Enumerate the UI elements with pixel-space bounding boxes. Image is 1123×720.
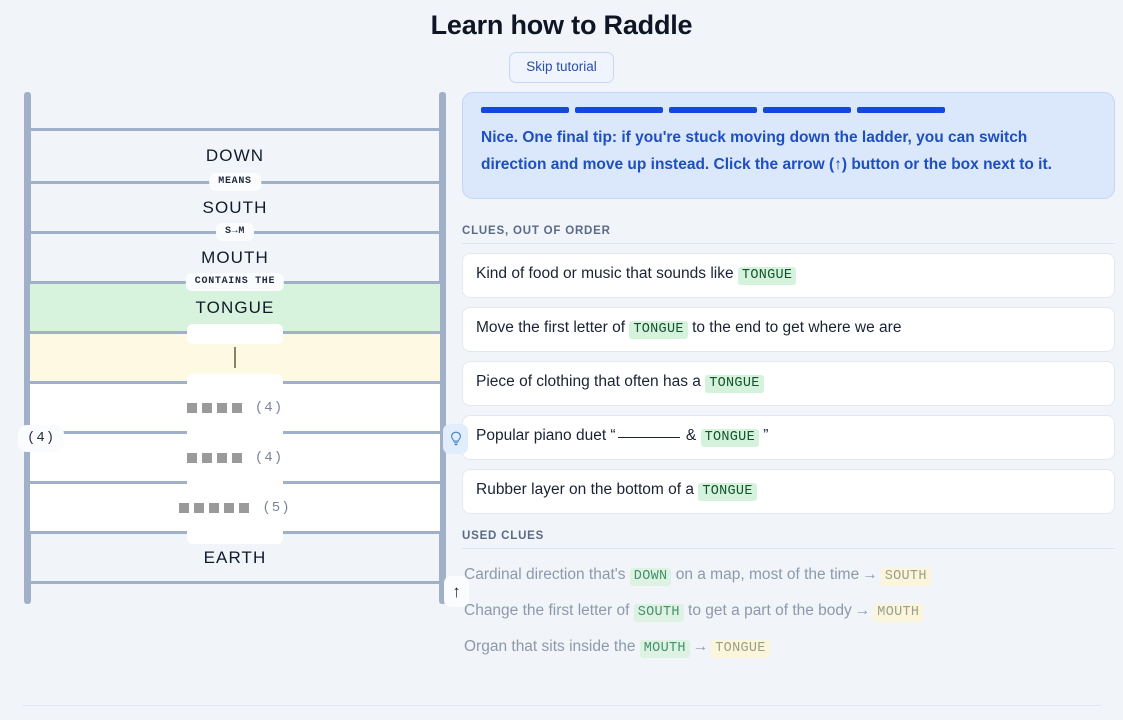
clue-token: TONGUE <box>701 429 759 447</box>
clue-blank <box>618 437 680 438</box>
progress-segment <box>481 107 569 113</box>
progress-segment <box>669 107 757 113</box>
clue-card[interactable]: Kind of food or music that sounds like T… <box>462 253 1115 298</box>
clue-text-pre: Kind of food or music that sounds like <box>476 265 738 282</box>
letter-square <box>232 403 242 413</box>
progress-segment <box>857 107 945 113</box>
letter-squares <box>179 503 249 513</box>
letter-squares <box>187 453 242 463</box>
clue-token: TONGUE <box>629 321 687 339</box>
clue-text-pre: Move the first letter of <box>476 319 629 336</box>
used-clue-post: to get a part of the body <box>684 602 852 619</box>
skip-tutorial-button[interactable]: Skip tutorial <box>509 52 614 83</box>
letter-square <box>202 403 212 413</box>
rung-connector-s-to-m: S→M <box>216 223 254 241</box>
used-clue-token: SOUTH <box>634 604 684 622</box>
clue-card[interactable]: Piece of clothing that often has a TONGU… <box>462 361 1115 406</box>
text-caret <box>234 347 236 368</box>
rung-word: TONGUE <box>195 298 274 318</box>
rung-connector-empty[interactable] <box>187 474 283 494</box>
ladder-rung-bottom-cap <box>30 581 440 611</box>
used-clue-row: Organ that sits inside the MOUTH→TONGUE <box>462 630 1115 666</box>
rung-word: SOUTH <box>203 198 268 218</box>
clue-token: TONGUE <box>705 375 763 393</box>
used-clue-row: Cardinal direction that's DOWN on a map,… <box>462 558 1115 594</box>
tutorial-progress <box>481 107 1094 113</box>
used-clue-answer: MOUTH <box>873 604 923 622</box>
clue-text-mid: & <box>682 427 701 444</box>
used-clue-pre: Organ that sits inside the <box>464 638 640 655</box>
ladder-rung-earth[interactable]: EARTH <box>30 531 440 581</box>
letter-square <box>224 503 234 513</box>
progress-segment <box>575 107 663 113</box>
rung-connector-empty[interactable] <box>187 524 283 544</box>
rung-word: MOUTH <box>201 248 269 268</box>
letter-square <box>202 453 212 463</box>
clue-card[interactable]: Popular piano duet “ & TONGUE ” <box>462 415 1115 460</box>
used-clue-answer: SOUTH <box>881 568 931 586</box>
clue-text-pre: Rubber layer on the bottom of a <box>476 481 698 498</box>
letter-square <box>239 503 249 513</box>
letter-square <box>217 453 227 463</box>
lightbulb-icon <box>449 431 463 447</box>
letter-placeholders: (5) <box>179 500 290 516</box>
clue-token: TONGUE <box>738 267 796 285</box>
rung-connector-empty[interactable] <box>187 374 283 394</box>
used-clue-token: DOWN <box>630 568 672 586</box>
footer-divider <box>22 705 1101 706</box>
ladder-rail-right <box>439 92 446 604</box>
letter-square <box>187 453 197 463</box>
clue-text-pre: Piece of clothing that often has a <box>476 373 705 390</box>
used-clue-token: MOUTH <box>640 640 690 658</box>
letter-count: (4) <box>255 400 283 416</box>
tutorial-message: Nice. One final tip: if you're stuck mov… <box>481 124 1094 178</box>
arrow-icon: → <box>855 602 871 619</box>
letter-count: (4) <box>255 450 283 466</box>
letter-count: (5) <box>262 500 290 516</box>
used-clue-answer: TONGUE <box>711 640 769 658</box>
rung-word: EARTH <box>204 548 267 568</box>
letter-placeholders: (4) <box>187 450 283 466</box>
page-header: Learn how to Raddle Skip tutorial <box>0 0 1123 83</box>
clue-text-pre: Popular piano duet “ <box>476 427 616 444</box>
letter-square <box>232 453 242 463</box>
letter-square <box>209 503 219 513</box>
used-clue-pre: Change the first letter of <box>464 602 634 619</box>
used-clue-row: Change the first letter of SOUTH to get … <box>462 594 1115 630</box>
active-length-badge: (4) <box>18 425 64 452</box>
ladder-panel: DOWN MEANS SOUTH S→M MOUTH CONTAINS THE … <box>0 92 462 604</box>
used-clues-divider <box>462 548 1115 549</box>
letter-square <box>194 503 204 513</box>
move-up-button[interactable]: ↑ <box>444 576 469 607</box>
letter-square <box>187 403 197 413</box>
used-clue-pre: Cardinal direction that's <box>464 566 630 583</box>
letter-square <box>217 403 227 413</box>
rung-connector-empty[interactable] <box>187 324 283 344</box>
main-content: DOWN MEANS SOUTH S→M MOUTH CONTAINS THE … <box>0 92 1123 666</box>
used-clue-post: on a map, most of the time <box>671 566 859 583</box>
hint-button[interactable] <box>443 424 468 454</box>
clue-token: TONGUE <box>698 483 756 501</box>
tutorial-callout: Nice. One final tip: if you're stuck mov… <box>462 92 1115 199</box>
clue-text-post: ” <box>759 427 768 444</box>
arrow-icon: → <box>693 638 709 655</box>
page-title: Learn how to Raddle <box>0 6 1123 44</box>
clue-text-post: to the end to get where we are <box>688 319 902 336</box>
letter-squares <box>187 403 242 413</box>
used-clues-section: USED CLUES Cardinal direction that's DOW… <box>462 530 1115 666</box>
ladder-rungs: DOWN MEANS SOUTH S→M MOUTH CONTAINS THE … <box>30 105 440 611</box>
ladder-rung-top-cap <box>30 105 440 131</box>
letter-placeholders: (4) <box>187 400 283 416</box>
used-clues-title: USED CLUES <box>462 530 1115 542</box>
clues-section-title: CLUES, OUT OF ORDER <box>462 225 1115 237</box>
clues-divider <box>462 243 1115 244</box>
rung-word: DOWN <box>206 146 264 166</box>
rung-connector-empty[interactable] <box>187 424 283 444</box>
letter-square <box>179 503 189 513</box>
rung-connector-means: MEANS <box>209 173 261 191</box>
rung-connector-contains-the: CONTAINS THE <box>186 273 284 291</box>
progress-segment <box>763 107 851 113</box>
arrow-icon: → <box>862 566 878 583</box>
clue-card[interactable]: Rubber layer on the bottom of a TONGUE <box>462 469 1115 514</box>
right-panel: Nice. One final tip: if you're stuck mov… <box>462 92 1123 666</box>
word-ladder: DOWN MEANS SOUTH S→M MOUTH CONTAINS THE … <box>16 92 454 604</box>
clue-card[interactable]: Move the first letter of TONGUE to the e… <box>462 307 1115 352</box>
